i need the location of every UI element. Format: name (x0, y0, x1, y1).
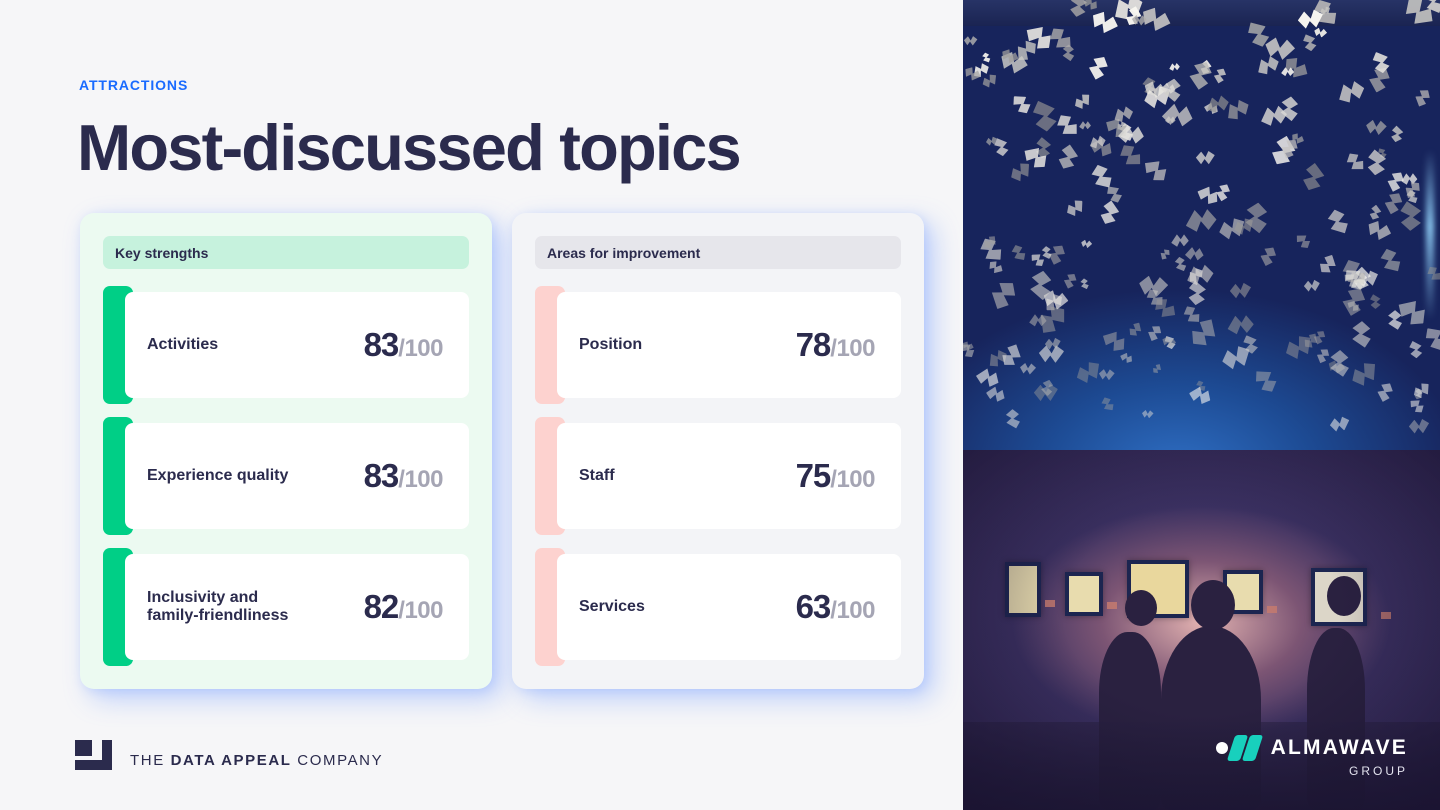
row-score-max: /100 (830, 597, 875, 624)
row-score: 82/100 (364, 588, 443, 626)
table-row[interactable]: Services 63/100 (535, 548, 901, 666)
row-body: Inclusivity and family-friendliness 82/1… (125, 554, 469, 660)
almawave-chevrons-icon (1231, 735, 1261, 761)
almawave-name: ALMAWAVE (1271, 736, 1408, 760)
row-score-value: 83 (364, 457, 399, 494)
row-label: Inclusivity and family-friendliness (147, 589, 288, 625)
table-row[interactable]: Inclusivity and family-friendliness 82/1… (103, 548, 469, 666)
photo-panel: ALMAWAVE GROUP (963, 0, 1440, 810)
card-key-strengths: Key strengths Activities 83/100 (80, 213, 492, 689)
row-body: Staff 75/100 (557, 423, 901, 529)
row-label: Staff (579, 467, 615, 485)
row-score-max: /100 (830, 466, 875, 493)
footer-logo: THE DATA APPEAL COMPANY (72, 738, 383, 774)
row-score: 83/100 (364, 457, 443, 495)
row-score: 63/100 (796, 588, 875, 626)
slide: ATTRACTIONS Most-discussed topics Key st… (0, 0, 1440, 810)
row-label: Services (579, 598, 645, 616)
almawave-dot-icon (1216, 742, 1228, 754)
row-score-value: 82 (364, 588, 399, 625)
row-body: Position 78/100 (557, 292, 901, 398)
row-label: Position (579, 336, 642, 354)
eyebrow-label: ATTRACTIONS (79, 77, 188, 93)
card-areas-for-improvement: Areas for improvement Position 78/100 (512, 213, 924, 689)
table-row[interactable]: Experience quality 83/100 (103, 417, 469, 535)
row-score-value: 63 (796, 588, 831, 625)
row-label: Activities (147, 336, 218, 354)
page-title: Most-discussed topics (77, 114, 740, 182)
row-score-value: 83 (364, 326, 399, 363)
table-row[interactable]: Position 78/100 (535, 286, 901, 404)
row-score: 78/100 (796, 326, 875, 364)
row-score-max: /100 (398, 466, 443, 493)
slide-content: ATTRACTIONS Most-discussed topics Key st… (0, 0, 963, 810)
photo-gallery-visitors: ALMAWAVE GROUP (963, 450, 1440, 810)
almawave-logo: ALMAWAVE GROUP (1216, 735, 1408, 778)
row-body: Services 63/100 (557, 554, 901, 660)
row-score: 83/100 (364, 326, 443, 364)
row-body: Activities 83/100 (125, 292, 469, 398)
logo-data-appeal: DATA APPEAL (171, 752, 292, 769)
table-row[interactable]: Staff 75/100 (535, 417, 901, 535)
rows-key-strengths: Activities 83/100 Experience quality 83/… (103, 286, 469, 673)
data-appeal-mark-icon (72, 738, 118, 774)
photo-origami-cranes (963, 0, 1440, 450)
data-appeal-wordmark: THE DATA APPEAL COMPANY (130, 752, 383, 774)
row-label: Experience quality (147, 467, 288, 485)
row-score: 75/100 (796, 457, 875, 495)
cards-container: Key strengths Activities 83/100 (80, 213, 920, 689)
almawave-subtitle: GROUP (1216, 764, 1408, 778)
row-score-max: /100 (398, 335, 443, 362)
row-score-value: 78 (796, 326, 831, 363)
rows-areas-for-improvement: Position 78/100 Staff 75/100 (535, 286, 901, 673)
row-score-value: 75 (796, 457, 831, 494)
row-body: Experience quality 83/100 (125, 423, 469, 529)
row-score-max: /100 (830, 335, 875, 362)
logo-the: THE (130, 752, 171, 769)
row-score-max: /100 (398, 597, 443, 624)
logo-company: COMPANY (292, 752, 384, 769)
card-header-areas-for-improvement: Areas for improvement (535, 236, 901, 269)
card-header-key-strengths: Key strengths (103, 236, 469, 269)
table-row[interactable]: Activities 83/100 (103, 286, 469, 404)
